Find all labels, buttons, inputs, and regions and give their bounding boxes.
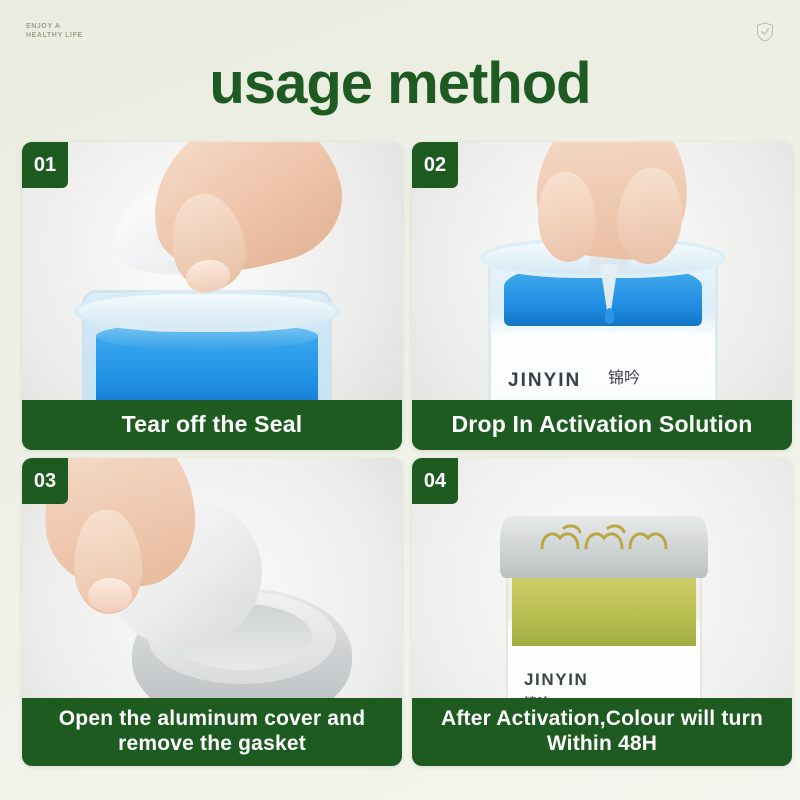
step-number-badge: 04 <box>412 458 458 504</box>
step-number-badge: 01 <box>22 142 68 188</box>
step-card-02: JINYIN 锦吟 02 Drop In Activation Solution <box>412 142 792 450</box>
step-caption: Tear off the Seal <box>22 400 402 450</box>
step-card-01: 01 Tear off the Seal <box>22 142 402 450</box>
jar-label-brand: JINYIN <box>524 670 588 690</box>
step-number-badge: 02 <box>412 142 458 188</box>
brand-logo-line1: ENJOY A <box>26 22 83 31</box>
brand-logo-line2: HEALTHY LIFE <box>26 31 83 40</box>
brand-logo: ENJOY A HEALTHY LIFE <box>26 22 83 40</box>
shield-check-icon <box>756 22 774 42</box>
steps-grid: 01 Tear off the Seal JINYIN 锦吟 02 Drop I… <box>22 142 778 766</box>
step-caption: After Activation,Colour will turn Within… <box>412 698 792 766</box>
step-caption: Drop In Activation Solution <box>412 400 792 450</box>
jar-label-brand-cn: 锦吟 <box>608 364 640 388</box>
step-card-03: 03 Open the aluminum cover and remove th… <box>22 458 402 766</box>
lid-pattern-icon <box>530 522 678 558</box>
page-title: usage method <box>0 52 800 116</box>
step-card-04: JINYIN 锦吟 除甲醛变色果冻 FORMALDEHYDE FREE JELL… <box>412 458 792 766</box>
step-caption: Open the aluminum cover and remove the g… <box>22 698 402 766</box>
step-number-badge: 03 <box>22 458 68 504</box>
